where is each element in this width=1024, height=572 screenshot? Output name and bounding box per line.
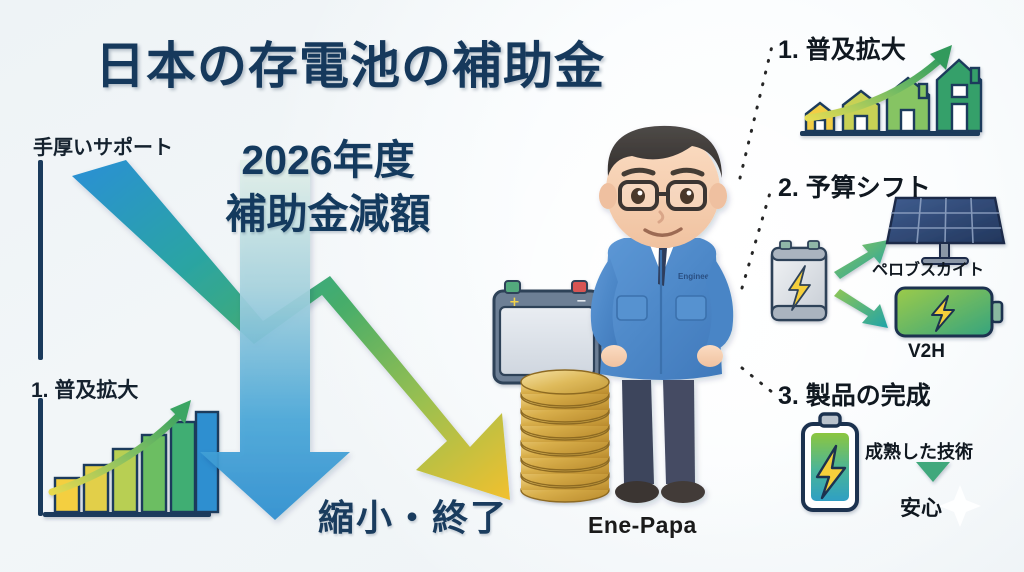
connector-lines xyxy=(740,46,772,392)
support-label: 手厚いサポート xyxy=(33,131,173,160)
v2h-caption: V2H xyxy=(908,341,945,363)
page-title: 日本の存電池の補助金 xyxy=(0,26,700,98)
perovskite-caption: ペロブスカイト xyxy=(872,256,984,280)
right-item-1-heading: 1. 普及拡大 xyxy=(778,30,906,66)
hero-subtitle-line2: 補助金減額 xyxy=(178,187,478,241)
battery-full-icon xyxy=(803,414,857,510)
sparkle-icon xyxy=(939,485,981,527)
svg-text:+: + xyxy=(509,295,520,310)
coin-stack-icon xyxy=(521,370,609,502)
car-battery-icon: + − xyxy=(494,281,600,383)
connector-2 xyxy=(742,186,772,288)
hero-subtitle: 2026年度 補助金減額 xyxy=(178,133,478,241)
outcome-label: 縮小・終了 xyxy=(318,489,508,541)
mini-bar-chart xyxy=(43,400,218,517)
branch-arrow-down xyxy=(834,289,888,328)
svg-text:−: − xyxy=(576,294,587,309)
mature-technology-caption: 成熟した技術 xyxy=(865,438,973,464)
triangle-down-icon xyxy=(916,462,950,482)
infographic-canvas: + − xyxy=(0,0,1024,572)
connector-3 xyxy=(742,368,772,392)
mascot-figure: Engineer xyxy=(591,126,733,503)
solar-panel-icon xyxy=(887,198,1004,264)
peace-of-mind-caption: 安心 xyxy=(900,492,942,522)
grey-battery-icon xyxy=(772,241,826,320)
mini-chart-label: 1. 普及拡大 xyxy=(31,374,138,404)
left-axis-rules xyxy=(38,160,43,516)
green-battery-icon xyxy=(896,288,1002,336)
uniform-badge-text: Engineer xyxy=(678,272,712,281)
hero-subtitle-line1: 2026年度 xyxy=(178,133,478,187)
connector-1 xyxy=(740,46,772,178)
right-item-2-heading: 2. 予算シフト xyxy=(778,168,931,204)
mascot-name-label: Ene-Papa xyxy=(588,512,697,539)
right-item-3-heading: 3. 製品の完成 xyxy=(778,376,931,412)
